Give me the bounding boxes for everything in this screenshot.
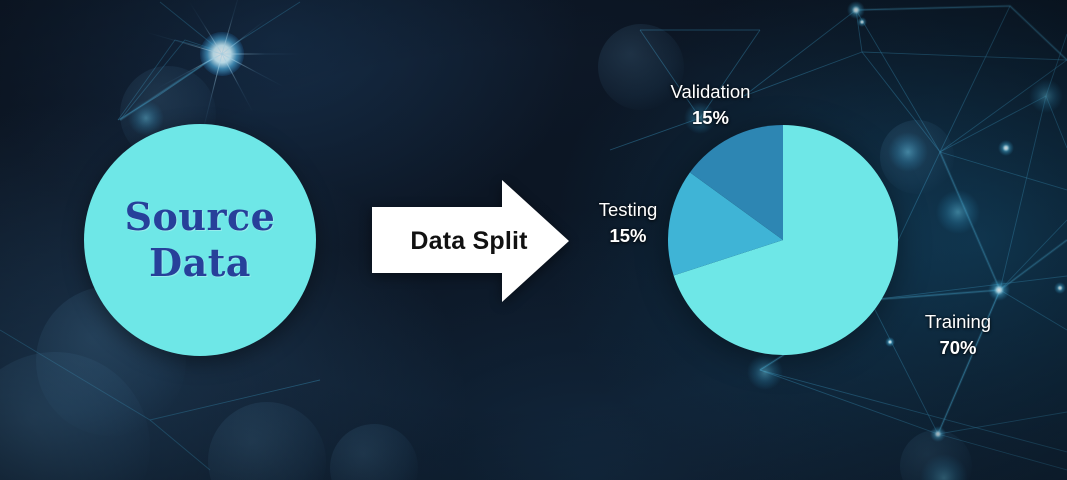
pie-label-validation-pct: 15% [643,105,778,131]
pie-label-testing: Testing 15% [573,197,683,250]
diagram-canvas: Source Data Data Split Validation 15% Te… [0,0,1067,480]
pie-label-validation-name: Validation [671,81,751,102]
pie-label-training-pct: 70% [893,335,1023,361]
data-split-pie-chart [668,125,898,355]
pie-label-training: Training 70% [893,309,1023,362]
source-data-label-line2: Data [149,240,251,286]
source-data-label-line1: Source [125,194,276,240]
data-split-arrow: Data Split [368,178,573,304]
pie-label-testing-name: Testing [599,199,658,220]
pie-label-validation: Validation 15% [643,79,778,132]
source-data-node: Source Data [84,124,316,356]
pie-label-testing-pct: 15% [573,223,683,249]
arrow-label: Data Split [368,178,548,304]
pie-label-training-name: Training [925,311,991,332]
